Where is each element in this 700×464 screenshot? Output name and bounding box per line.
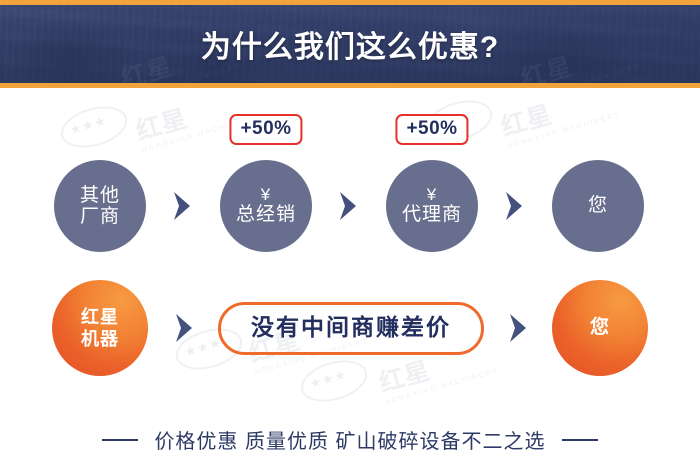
- node-line-1: 您: [590, 317, 610, 338]
- chevron-right-icon: [334, 189, 364, 223]
- direct-node-customer[interactable]: 您: [552, 280, 648, 376]
- watermark-brand-cn: 红星: [133, 105, 191, 146]
- direct-node-hongxing-brand[interactable]: 红星 机器: [52, 280, 148, 376]
- node-line-1: 您: [588, 195, 608, 216]
- node-circle: 您: [552, 280, 648, 376]
- header-bottom-accent-rule: [0, 83, 700, 88]
- chevron-right-icon: [170, 311, 200, 345]
- header-top-accent-rule: [0, 0, 700, 5]
- footer-rule-left: [102, 439, 138, 441]
- node-line-2: 机器: [81, 328, 119, 351]
- chevron-right-icon: [168, 189, 198, 223]
- node-line-1: 总经销: [236, 204, 296, 225]
- node-circle: 您: [552, 160, 644, 252]
- chevron-right-icon: [500, 189, 530, 223]
- node-circle: 其他 厂商: [54, 160, 146, 252]
- node-line-1: 代理商: [402, 204, 462, 225]
- markup-badge: +50%: [395, 114, 468, 145]
- markup-badge: +50%: [229, 114, 302, 145]
- node-line-2: 厂商: [80, 206, 120, 227]
- node-circle: ¥ 代理商: [386, 160, 478, 252]
- node-circle: 红星 机器: [52, 280, 148, 376]
- distribution-chain-row: 其他 厂商 +50% ¥ 总经销 +50% ¥ 代理商: [0, 150, 700, 262]
- chain-node-customer[interactable]: 您: [552, 160, 644, 252]
- no-middleman-banner: 没有中间商赚差价: [218, 302, 484, 355]
- page-title: 为什么我们这么优惠?: [0, 0, 700, 88]
- watermark-brand-en: HONGXING MACHINERY: [506, 111, 621, 150]
- node-circle: ¥ 总经销: [220, 160, 312, 252]
- yen-icon: ¥: [427, 186, 437, 203]
- chevron-right-icon: [504, 311, 534, 345]
- node-line-1: 红星: [81, 306, 119, 329]
- yen-icon: ¥: [261, 186, 271, 203]
- chain-node-other-manufacturer[interactable]: 其他 厂商: [54, 160, 146, 252]
- footer-tagline: 价格优惠 质量优质 矿山破碎设备不二之选: [154, 425, 545, 454]
- direct-channel-row: 红星 机器 没有中间商赚差价 您: [0, 272, 700, 384]
- footer-rule-right: [562, 439, 598, 441]
- watermark-ring-icon: ★★★: [56, 99, 132, 154]
- watermark-brand-cn: 红星: [498, 101, 556, 142]
- chain-node-agent[interactable]: +50% ¥ 代理商: [386, 160, 478, 252]
- footer-tagline-bar: 价格优惠 质量优质 矿山破碎设备不二之选: [0, 415, 700, 464]
- poster-header: 为什么我们这么优惠? 红星 HONGXING MACHINERY 红星 HONG…: [0, 0, 700, 88]
- node-line-1: 其他: [80, 185, 120, 206]
- chain-node-general-distributor[interactable]: +50% ¥ 总经销: [220, 160, 312, 252]
- promo-poster: 为什么我们这么优惠? 红星 HONGXING MACHINERY 红星 HONG…: [0, 0, 700, 464]
